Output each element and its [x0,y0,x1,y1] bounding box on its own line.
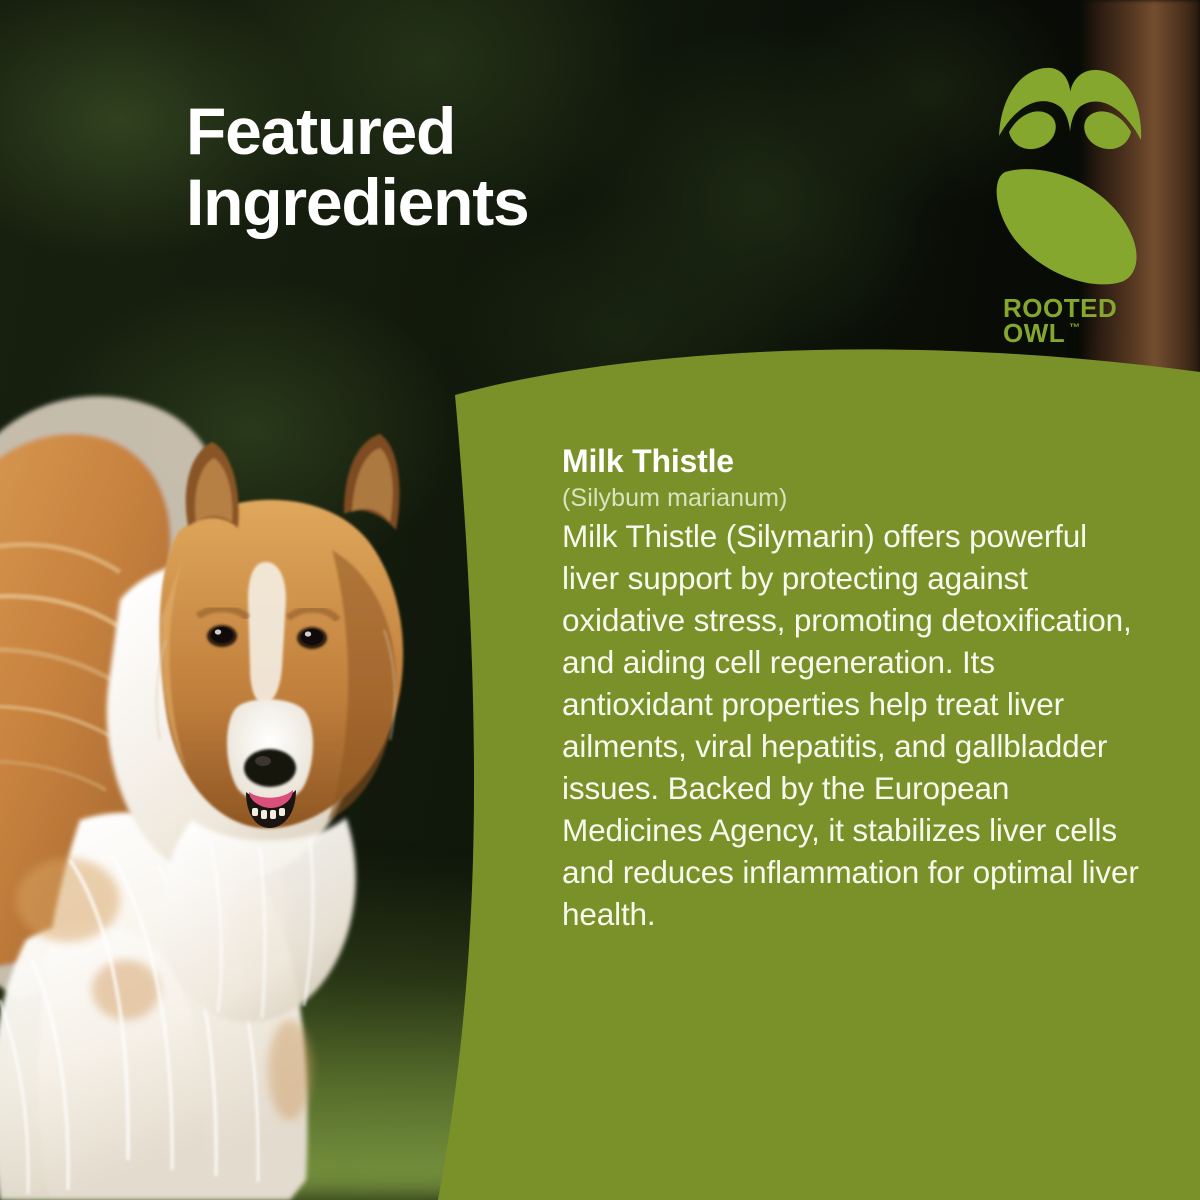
ingredient-latin-name: (Silybum marianum) [562,483,1150,513]
page-title-line-1: Featured [186,96,706,167]
brand-logo[interactable]: ROOTED OWL ™ [995,58,1145,346]
ingredient-content: Milk Thistle (Silybum marianum) Milk Thi… [562,443,1150,935]
rough-collie-dog-photo [0,300,520,1200]
brand-name-line-2: OWL [1003,321,1065,346]
ingredient-name: Milk Thistle [562,443,1150,481]
brand-wordmark: ROOTED OWL ™ [1003,296,1145,346]
page-title: Featured Ingredients [186,96,706,239]
ingredient-description: Milk Thistle (Silymarin) offers powerful… [562,515,1150,935]
poster-canvas: Featured Ingredients ROOTED OWL ™ Milk T… [0,0,1200,1200]
owl-logo-icon [995,58,1145,288]
page-title-line-2: Ingredients [186,167,706,238]
trademark-symbol: ™ [1069,323,1080,334]
